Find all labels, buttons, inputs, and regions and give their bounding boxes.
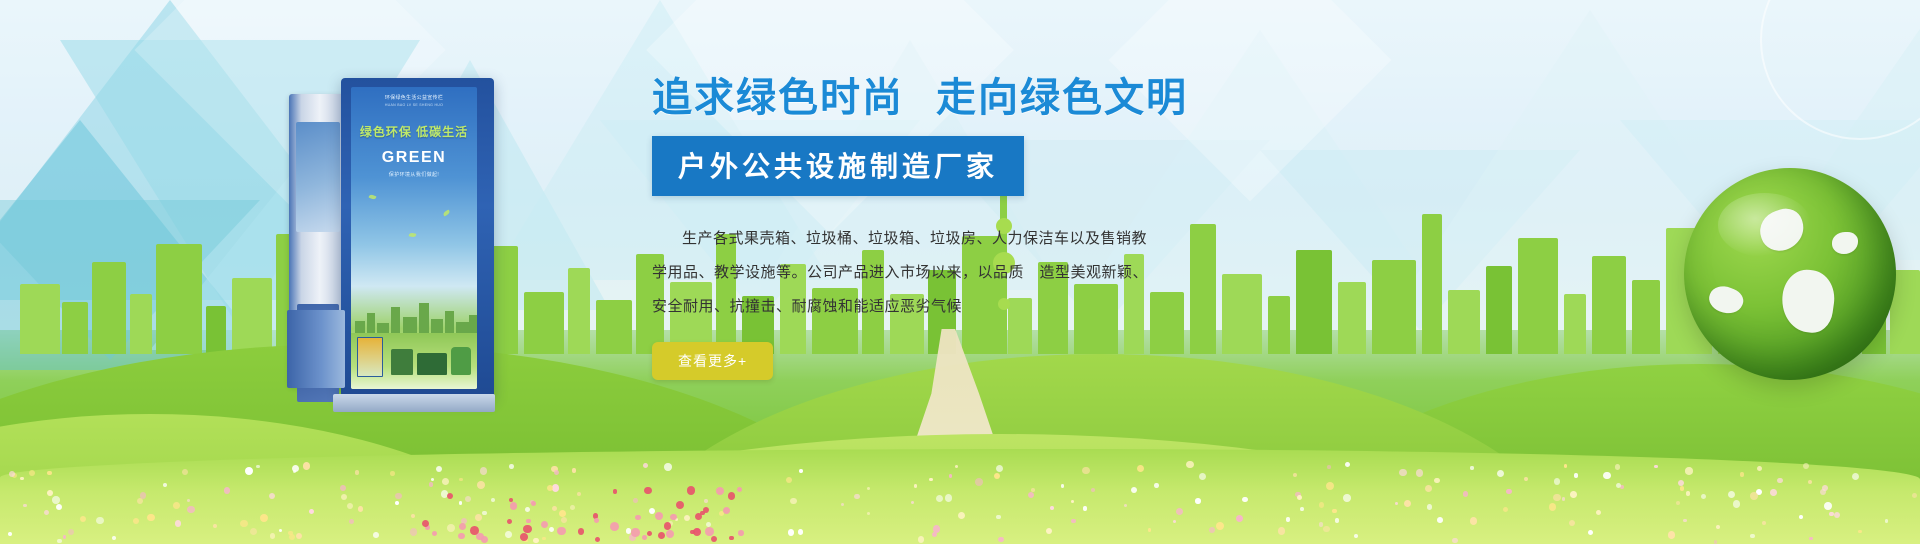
- flower-dot: [1176, 508, 1184, 516]
- flower-dot: [57, 539, 61, 543]
- flower-dot: [187, 506, 195, 514]
- flower-dot-pink: [644, 487, 651, 494]
- flower-dot: [1570, 491, 1577, 498]
- flower-dot: [955, 465, 959, 469]
- flower-dot-pink: [703, 507, 709, 513]
- flower-dot: [296, 533, 302, 539]
- flower-dot: [958, 512, 965, 519]
- kiosk-title-cn: 绿色环保 低碳生活: [351, 123, 477, 140]
- flower-dot: [1554, 478, 1561, 485]
- kiosk-bin-graphic-3: [451, 347, 471, 375]
- flower-dot: [288, 531, 293, 536]
- flower-dot: [1820, 489, 1826, 495]
- flower-dot: [56, 504, 62, 510]
- flower-dot: [340, 485, 346, 491]
- flower-dot: [1434, 478, 1440, 484]
- flower-dot: [1300, 507, 1304, 511]
- flower-dot: [911, 501, 914, 504]
- flower-dot: [975, 478, 983, 486]
- flower-dot: [303, 462, 310, 469]
- flower-dot: [1137, 465, 1144, 472]
- flower-dot: [1071, 519, 1075, 523]
- flower-dot-pink: [635, 515, 641, 521]
- flower-dot-pink: [610, 522, 619, 531]
- flower-dot-pink: [595, 537, 600, 542]
- kiosk-note-cn: 保护环境从我们做起!: [351, 171, 477, 178]
- kiosk-bin-graphic-1: [391, 349, 413, 375]
- flower-dot: [1131, 487, 1137, 493]
- flower-dot-pink: [647, 531, 652, 536]
- flower-dot: [1236, 515, 1243, 522]
- flower-dot: [436, 466, 442, 472]
- flower-dot: [1028, 492, 1034, 498]
- flower-dot: [1319, 522, 1324, 527]
- page-title: 追求绿色时尚走向绿色文明: [652, 72, 1272, 124]
- flower-dot: [47, 471, 51, 475]
- flower-dot: [1885, 519, 1889, 523]
- flower-dot: [1071, 500, 1074, 503]
- flower-dot: [9, 471, 15, 477]
- flower-dot-pink: [447, 493, 453, 499]
- flower-dot: [349, 519, 355, 525]
- flower-dot: [1216, 522, 1224, 530]
- flower-dot: [1082, 467, 1089, 474]
- flower-dot-pink: [705, 527, 714, 536]
- flower-dot: [1686, 491, 1690, 495]
- flower-dot: [395, 501, 399, 505]
- flower-dot: [224, 487, 231, 494]
- flower-dot: [1728, 491, 1735, 498]
- flower-dot: [525, 507, 530, 512]
- flower-dot: [542, 537, 545, 540]
- flower-dot: [269, 493, 275, 499]
- flower-dot-pink: [541, 521, 548, 528]
- flower-dot: [8, 532, 12, 536]
- flower-dot: [1603, 472, 1611, 480]
- flower-dot: [1701, 494, 1706, 499]
- flower-dot: [1209, 527, 1215, 533]
- flower-dot: [1278, 527, 1286, 535]
- kiosk-title-en: GREEN: [351, 149, 477, 167]
- flower-dot: [1463, 491, 1468, 496]
- flower-dot: [1740, 472, 1744, 476]
- flower-dot: [1799, 515, 1803, 519]
- kiosk-side-window: [296, 122, 340, 232]
- flower-dot: [998, 537, 1004, 543]
- flower-dot: [1470, 466, 1473, 469]
- globe-landmass: [1706, 281, 1747, 318]
- flower-dot: [480, 467, 487, 474]
- flower-dot: [358, 506, 363, 511]
- flower-dot: [509, 464, 514, 469]
- flower-dot: [1676, 501, 1680, 505]
- flower-dot: [570, 505, 575, 510]
- flower-dot: [704, 499, 708, 503]
- flower-dot: [80, 516, 86, 522]
- kiosk-lightbox-panel: 环保绿色生活公益宣传栏 HUAN BAO LV SE SHENG HUO 绿色环…: [351, 87, 477, 389]
- flower-dot: [44, 510, 50, 516]
- flower-dot: [1199, 473, 1206, 480]
- flower-dot-pink: [458, 533, 464, 539]
- flower-dot: [1615, 464, 1621, 470]
- flower-dot: [482, 511, 487, 516]
- flower-dot: [63, 535, 66, 538]
- flower-dot-pink: [676, 501, 684, 509]
- flower-dot: [1031, 488, 1035, 492]
- flower-dot: [1046, 528, 1052, 534]
- flower-dot-pink: [658, 532, 665, 539]
- flower-dot: [1148, 528, 1152, 532]
- flower-dot: [1343, 494, 1351, 502]
- flower-dot: [996, 515, 1000, 519]
- kiosk-lower-cabinet: [287, 310, 345, 388]
- flower-dot-pink: [666, 530, 674, 538]
- flower-dot: [96, 517, 103, 524]
- flower-dot: [23, 504, 27, 508]
- flower-dot: [1427, 504, 1432, 509]
- flower-dot: [47, 490, 53, 496]
- flower-dot: [475, 514, 482, 521]
- kiosk-header-en: HUAN BAO LV SE SHENG HUO: [385, 103, 443, 107]
- flower-dot: [1425, 485, 1432, 492]
- hero-banner: 环保绿色生活公益宣传栏 HUAN BAO LV SE SHENG HUO 绿色环…: [0, 0, 1920, 544]
- flower-dot: [664, 463, 672, 471]
- kiosk-bin-graphic-2: [417, 353, 447, 375]
- flower-dot: [1809, 537, 1812, 540]
- flower-dot: [175, 520, 182, 527]
- flower-dot: [949, 474, 953, 478]
- kiosk-skyline-building: [419, 303, 429, 337]
- flower-dot: [173, 502, 180, 509]
- flower-dot: [798, 529, 803, 534]
- flower-dot: [245, 467, 253, 475]
- kiosk-base: [333, 394, 495, 412]
- flower-dot: [786, 477, 792, 483]
- kiosk-poster-graphic: [357, 337, 383, 377]
- flower-dot: [994, 473, 1000, 479]
- flower-dot: [292, 465, 299, 472]
- flower-dot: [1564, 464, 1567, 467]
- flower-dot-pink: [507, 519, 512, 524]
- flower-dot: [279, 529, 282, 532]
- flower-dot: [854, 494, 860, 500]
- flower-dot-pink: [664, 522, 672, 530]
- flower-dot: [1668, 531, 1675, 538]
- flower-dot: [1061, 484, 1065, 488]
- flower-dot: [533, 538, 538, 543]
- green-earth-globe: [1684, 168, 1896, 380]
- flower-dot: [1297, 495, 1302, 500]
- flower-dot: [1803, 463, 1809, 469]
- flower-dot: [933, 525, 941, 533]
- flower-dot: [1683, 519, 1686, 522]
- flower-dot-pink: [510, 502, 518, 510]
- flower-dot-pink: [729, 536, 733, 540]
- flower-dot: [561, 517, 567, 523]
- flower-dot: [1549, 503, 1556, 510]
- flower-dot: [442, 478, 449, 485]
- headline-part-2: 走向绿色文明: [936, 76, 1188, 120]
- flower-dot: [1852, 473, 1859, 480]
- flower-dot: [1569, 520, 1575, 526]
- flower-dot: [270, 533, 276, 539]
- subtitle-ribbon: 户外公共设施制造厂家: [652, 136, 1024, 196]
- flower-dot: [1083, 506, 1087, 510]
- flower-dot-pink: [631, 528, 639, 536]
- flower-dot: [459, 501, 463, 505]
- flower-dot: [577, 492, 581, 496]
- globe-sphere: [1684, 168, 1896, 380]
- flower-dot: [1770, 489, 1777, 496]
- flower-dot: [799, 469, 803, 473]
- flower-dot: [867, 487, 870, 490]
- flower-dot-pink: [578, 528, 584, 534]
- flower-dot: [309, 509, 314, 514]
- flower-dot: [1596, 510, 1601, 515]
- flower-dot-pink: [594, 518, 599, 523]
- flower-dot: [373, 532, 379, 538]
- flower-dot: [547, 485, 553, 491]
- flower-dot: [1562, 497, 1565, 500]
- flower-dot: [355, 470, 360, 475]
- flower-dot: [1762, 521, 1766, 525]
- flower-dot: [137, 498, 143, 504]
- flower-dot: [552, 506, 558, 512]
- globe-landmass: [1777, 266, 1837, 335]
- kiosk-frame: 环保绿色生活公益宣传栏 HUAN BAO LV SE SHENG HUO 绿色环…: [341, 78, 494, 398]
- flower-dot: [213, 524, 218, 529]
- flower-dot: [626, 528, 632, 534]
- flower-dot: [1242, 497, 1247, 502]
- flower-dot: [684, 515, 691, 522]
- flower-dot: [1437, 517, 1443, 523]
- banner-copy-block: 追求绿色时尚走向绿色文明 户外公共设施制造厂家 生产各式果壳箱、垃圾桶、垃圾箱、…: [652, 72, 1272, 380]
- flower-dot: [1678, 480, 1684, 486]
- flower-dot: [1824, 502, 1832, 510]
- flower-dot: [20, 477, 24, 481]
- flower-dot: [133, 518, 139, 524]
- flower-dot: [1858, 530, 1862, 534]
- flower-dot: [914, 484, 917, 487]
- kiosk-city-graphic: [351, 289, 477, 337]
- flower-dot: [341, 494, 347, 500]
- flower-dot: [429, 482, 433, 486]
- flower-dot: [447, 524, 455, 532]
- flower-dot: [187, 499, 190, 502]
- flower-dot-pink: [738, 530, 744, 536]
- flower-dot: [572, 468, 577, 473]
- flower-dot: [52, 496, 59, 503]
- flower-dot: [932, 532, 937, 537]
- flower-dot: [163, 483, 167, 487]
- flower-dot-pink: [531, 501, 536, 506]
- meadow-flowers: [0, 454, 1920, 544]
- flower-dot: [505, 531, 511, 537]
- leaf-icon: [409, 232, 417, 237]
- flower-dot: [390, 471, 394, 475]
- flower-dot: [411, 514, 415, 518]
- flower-dot-pink: [695, 513, 702, 520]
- flower-dot: [936, 495, 943, 502]
- flower-dot: [240, 520, 247, 527]
- flower-dot: [554, 470, 559, 475]
- flower-dot-pink: [520, 533, 528, 541]
- flower-dot-pink: [526, 519, 530, 523]
- flower-dot: [1195, 498, 1200, 503]
- flower-dot: [1332, 509, 1337, 514]
- description-paragraph: 生产各式果壳箱、垃圾桶、垃圾箱、垃圾房、人力保洁车以及售销教学用品、教学设施等。…: [652, 222, 1152, 324]
- flower-dot-pink: [728, 492, 736, 500]
- flower-dot: [1503, 507, 1508, 512]
- flower-dot: [1124, 504, 1127, 507]
- flower-dot: [477, 481, 485, 489]
- flower-dot: [1757, 466, 1762, 471]
- flower-dot: [1777, 478, 1783, 484]
- flower-dot: [347, 503, 353, 509]
- flower-dot: [1327, 465, 1331, 469]
- flower-dot: [431, 478, 434, 481]
- flower-dot-pink: [687, 486, 695, 494]
- flower-dot: [1574, 473, 1579, 478]
- flower-dot: [945, 494, 953, 502]
- kiosk-header-cn: 环保绿色生活公益宣传栏: [385, 95, 443, 101]
- flower-dot-pink: [690, 530, 694, 534]
- flower-dot-pink: [711, 536, 717, 542]
- headline-part-1: 追求绿色时尚: [652, 76, 904, 120]
- flower-dot: [1733, 500, 1740, 507]
- flower-dot: [1685, 467, 1692, 474]
- flower-dot: [1345, 462, 1350, 467]
- flower-dot: [929, 478, 932, 481]
- flower-dot: [1416, 469, 1424, 477]
- flower-dot: [1750, 534, 1755, 539]
- flower-dot: [1716, 525, 1720, 529]
- flower-dot: [1293, 473, 1297, 477]
- flower-dot: [491, 498, 495, 502]
- flower-dot: [1186, 461, 1193, 468]
- flower-dot: [1808, 480, 1812, 484]
- leaf-icon: [368, 194, 376, 201]
- flower-dot: [918, 536, 925, 543]
- flower-dot: [1173, 520, 1176, 523]
- flower-dot-pink: [737, 487, 742, 492]
- flower-dot-pink: [557, 527, 566, 536]
- flower-dot: [250, 528, 257, 535]
- flower-dot: [1680, 486, 1684, 490]
- globe-highlight: [1718, 193, 1811, 257]
- flower-dot: [1323, 526, 1330, 533]
- flower-dot: [1404, 500, 1411, 507]
- flower-dot-pink: [642, 535, 647, 540]
- flower-dot: [1834, 512, 1840, 518]
- flower-dot: [29, 470, 35, 476]
- globe-landmass: [1832, 232, 1858, 254]
- flower-dot: [1506, 489, 1511, 494]
- flower-dot: [996, 465, 1003, 472]
- flower-dot: [1714, 540, 1717, 543]
- flower-dot: [395, 493, 402, 500]
- flower-dot-pink: [723, 507, 731, 515]
- flower-dot: [1452, 538, 1457, 543]
- flower-dot: [1335, 518, 1339, 522]
- flower-dot: [260, 514, 268, 522]
- flower-dot: [410, 528, 418, 536]
- flower-dot: [68, 529, 74, 535]
- flower-dot-pink: [655, 512, 663, 520]
- flower-dot: [1326, 482, 1334, 490]
- flower-dot: [790, 498, 797, 505]
- flower-dot: [182, 469, 188, 475]
- flower-dot: [1354, 534, 1358, 538]
- flower-dot: [841, 503, 844, 506]
- flower-dot: [465, 496, 471, 502]
- flower-dot: [289, 534, 295, 540]
- outdoor-kiosk-product: 环保绿色生活公益宣传栏 HUAN BAO LV SE SHENG HUO 绿色环…: [289, 78, 494, 398]
- flower-dot: [256, 465, 260, 469]
- flower-dot: [1524, 477, 1528, 481]
- flower-dot: [1319, 502, 1324, 507]
- flower-dot: [1654, 465, 1658, 469]
- flower-dot: [549, 527, 554, 532]
- flower-dot: [1912, 493, 1917, 498]
- flower-dot: [1553, 494, 1560, 501]
- flower-dot-pink: [459, 523, 466, 530]
- flower-dot: [459, 478, 463, 482]
- flower-dot: [112, 536, 116, 540]
- flower-dot: [1395, 502, 1398, 505]
- view-more-button[interactable]: 查看更多+: [652, 342, 773, 380]
- flower-dot-pink: [716, 487, 724, 495]
- flower-dot: [1470, 517, 1478, 525]
- flower-dot: [1286, 517, 1290, 521]
- flower-dot-pink: [432, 531, 437, 536]
- flower-dot: [1399, 469, 1407, 477]
- flower-dot: [867, 512, 870, 515]
- leaf-icon: [442, 210, 450, 217]
- flower-dot: [633, 498, 638, 503]
- flower-dot: [788, 529, 795, 536]
- flower-dot: [1050, 506, 1054, 510]
- kiosk-header-text: 环保绿色生活公益宣传栏 HUAN BAO LV SE SHENG HUO: [351, 95, 477, 109]
- flower-dot: [1750, 492, 1758, 500]
- flower-dot: [147, 514, 155, 522]
- flower-dot-pink: [613, 489, 617, 493]
- flower-dot: [643, 463, 648, 468]
- flower-dot: [1497, 470, 1505, 478]
- flower-dot: [1091, 488, 1095, 492]
- flower-dot: [1588, 530, 1594, 536]
- flower-dot: [1154, 483, 1159, 488]
